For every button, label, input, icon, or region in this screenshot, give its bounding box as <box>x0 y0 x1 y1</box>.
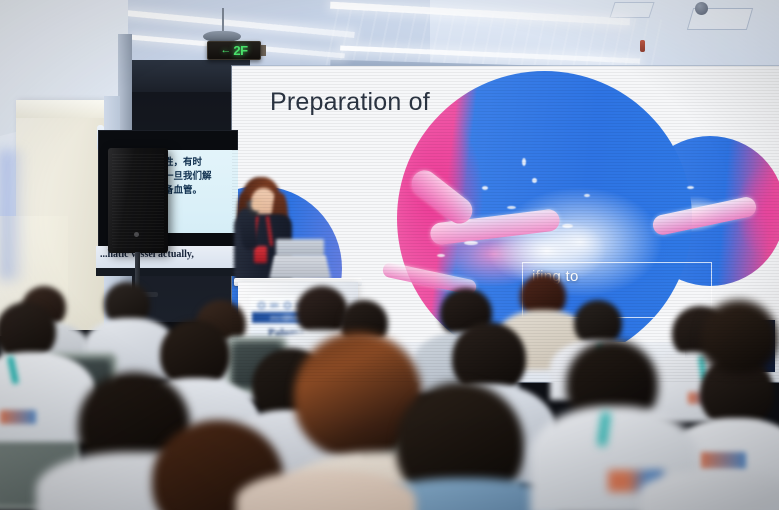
tshirt-logo <box>0 410 36 424</box>
tissue-speck <box>522 158 526 166</box>
chinese-caption-line: 一旦我们解 <box>164 170 238 184</box>
wall-blue-glow <box>0 150 26 280</box>
organization-logo-icon <box>258 302 265 309</box>
conference-photo: ← 2F Preparation of ifing to tion LYMPH <box>0 0 779 510</box>
organization-logo-icon <box>284 302 291 309</box>
tissue-speck <box>532 178 537 183</box>
tissue-speck <box>482 186 488 190</box>
exit-sign-2f: ← 2F <box>207 41 261 60</box>
left-arrow-icon: ← <box>220 45 231 56</box>
caption-screen-bezel <box>96 268 241 276</box>
tissue-speck <box>507 206 516 209</box>
tissue-speck <box>584 194 590 197</box>
presenter-badge <box>254 246 267 263</box>
chinese-caption-panel: 性，有时 一旦我们解 备血管。 <box>160 150 238 233</box>
tissue-speck <box>437 254 445 257</box>
slide-title: Preparation of <box>270 88 430 117</box>
ceiling-vent-small <box>609 2 654 18</box>
chinese-caption-line: 性，有时 <box>164 156 238 170</box>
audience-shoulders-foreground <box>640 470 779 510</box>
laptop-base <box>269 255 331 279</box>
logo-text: 国际 <box>270 303 279 309</box>
pa-speaker-logo <box>134 232 139 237</box>
audience-head-foreground <box>700 300 778 374</box>
tissue-speck <box>464 241 478 245</box>
tshirt-logo <box>700 452 746 470</box>
exit-sign-label: 2F <box>233 44 247 57</box>
wall-column-top <box>16 100 104 118</box>
sprinkler-head <box>640 40 645 52</box>
tissue-speck <box>687 186 694 189</box>
tissue-speck <box>562 224 573 228</box>
chinese-caption-line: 备血管。 <box>164 184 238 198</box>
presenter-hand <box>251 198 262 211</box>
ceiling-speaker-dome <box>695 2 708 15</box>
